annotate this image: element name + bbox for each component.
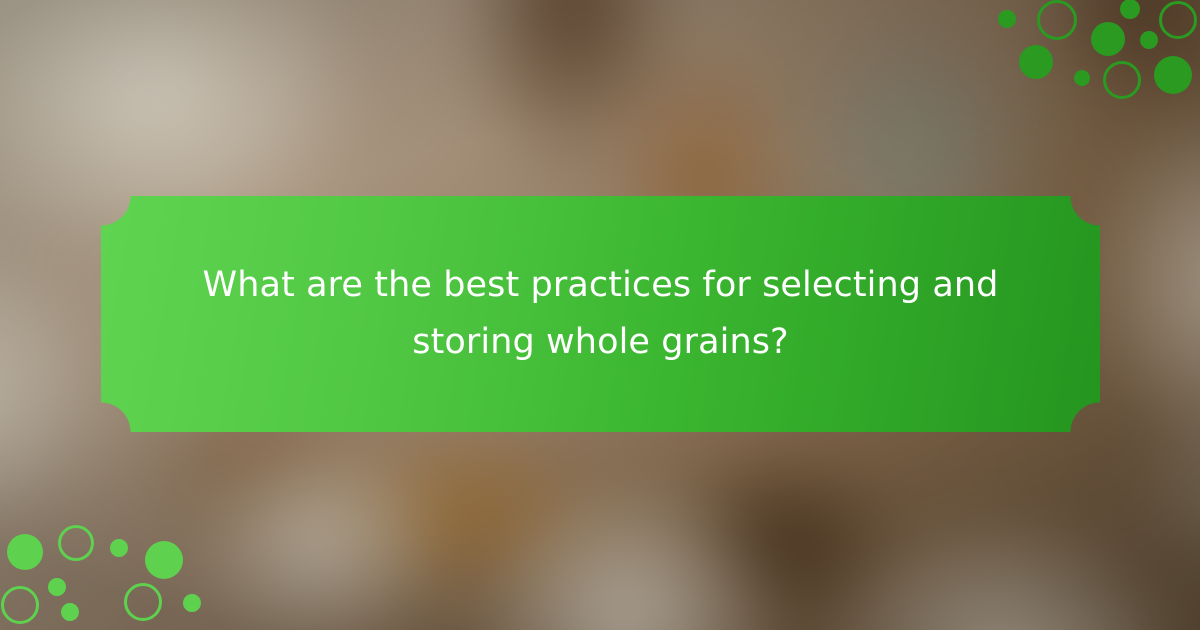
question-card: What are the best practices for selectin… — [101, 196, 1100, 432]
social-card-canvas: What are the best practices for selectin… — [0, 0, 1200, 630]
card-title: What are the best practices for selectin… — [131, 257, 1071, 370]
